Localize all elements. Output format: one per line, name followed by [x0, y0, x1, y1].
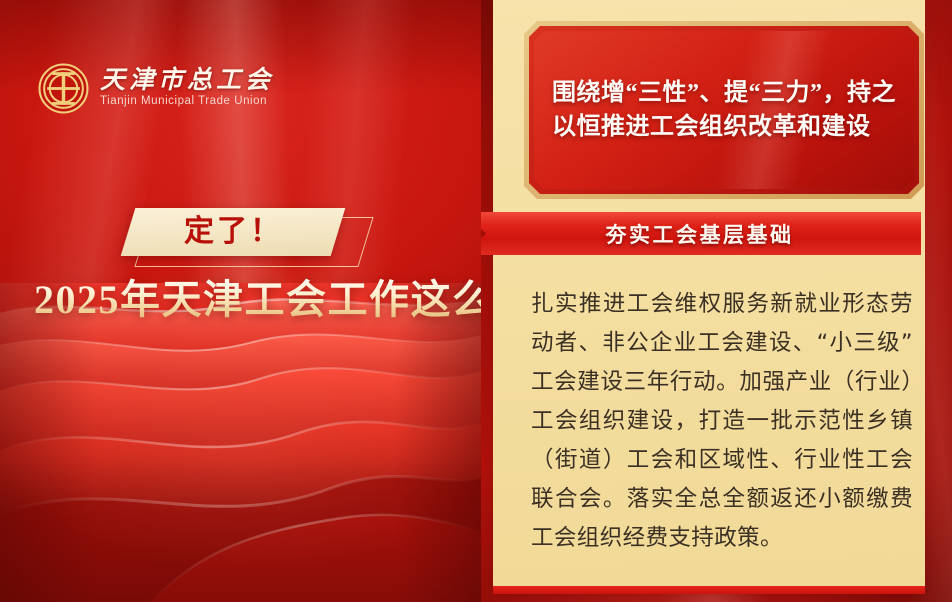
badge-fill: 定了！ — [121, 208, 346, 256]
frame-inner-field: 围绕增“三性”、提“三力”，持之以恒推进工会组织改革和建设 — [534, 31, 914, 189]
heading-frame: 围绕增“三性”、提“三力”，持之以恒推进工会组织改革和建设 — [524, 21, 924, 199]
bottom-red-bar — [493, 586, 925, 594]
section-ribbon-banner: 夯实工会基层基础 — [481, 212, 921, 255]
left-hero-panel: 天津市总工会 Tianjin Municipal Trade Union 定了！… — [0, 0, 481, 602]
red-silk-dunes — [0, 283, 481, 602]
cream-content-card: 围绕增“三性”、提“三力”，持之以恒推进工会组织改革和建设 扎实推进工会维权服务… — [493, 0, 925, 594]
poster-root: 天津市总工会 Tianjin Municipal Trade Union 定了！… — [0, 0, 952, 602]
brand-logo-lockup: 天津市总工会 Tianjin Municipal Trade Union — [38, 63, 274, 114]
badge-label: 定了！ — [184, 217, 283, 247]
right-content-panel: 围绕增“三性”、提“三力”，持之以恒推进工会组织改革和建设 扎实推进工会维权服务… — [481, 0, 952, 602]
brand-text-group: 天津市总工会 Tianjin Municipal Trade Union — [100, 68, 274, 110]
ding-le-badge: 定了！ — [128, 208, 368, 270]
section-heading-text: 围绕增“三性”、提“三力”，持之以恒推进工会组织改革和建设 — [552, 76, 900, 144]
poster-headline: 2025年天津工会工作这么干 — [34, 278, 481, 323]
section-body-text: 扎实推进工会维权服务新就业形态劳动者、非公企业工会建设、“小三级”工会建设三年行… — [531, 285, 913, 557]
brand-name-cn: 天津市总工会 — [100, 68, 274, 94]
brand-name-en: Tianjin Municipal Trade Union — [100, 95, 274, 108]
ribbon-label: 夯实工会基层基础 — [481, 212, 921, 255]
trade-union-emblem-icon — [38, 63, 89, 114]
